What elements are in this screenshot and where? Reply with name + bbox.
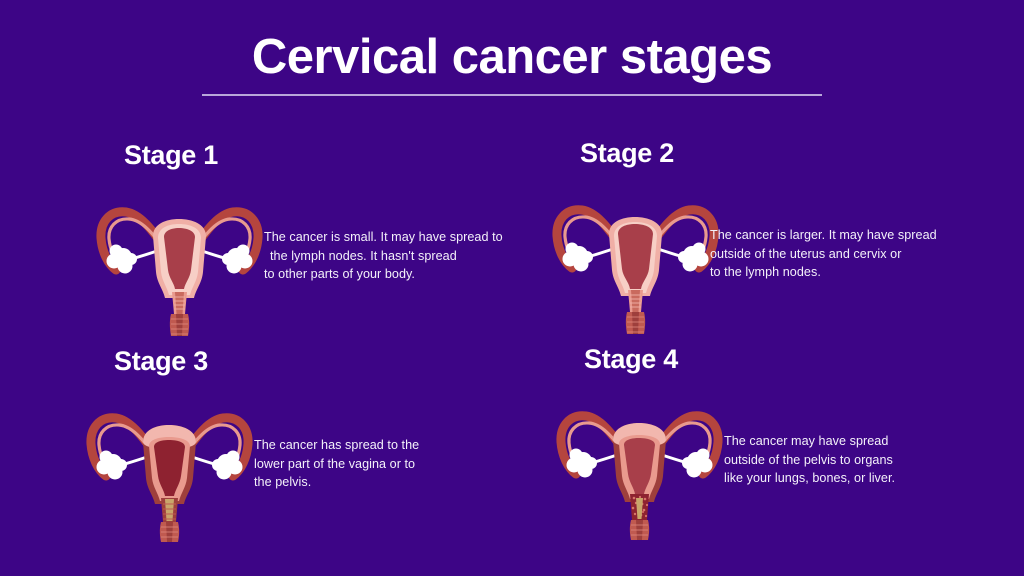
- stage-description-2-line-3: to the lymph nodes.: [710, 263, 1000, 282]
- stage-description-2-line-1: The cancer is larger. It may have spread: [710, 226, 1000, 245]
- stage-description-2-line-2: outside of the uterus and cervix or: [710, 245, 1000, 264]
- stage-description-3-line-3: the pelvis.: [254, 473, 534, 492]
- page-title: Cervical cancer stages: [0, 32, 1024, 83]
- stage-panel-2: Stage 2: [548, 138, 1003, 334]
- stage-panel-1: Stage 1: [92, 140, 547, 336]
- stage-description-4: The cancer may have spread outside of th…: [724, 432, 1014, 488]
- stage-description-4-line-2: outside of the pelvis to organs: [724, 451, 1014, 470]
- stage-panel-3: Stage 3: [82, 346, 537, 542]
- stage-description-3-line-1: The cancer has spread to the: [254, 436, 534, 455]
- stage-label-2: Stage 2: [580, 138, 674, 169]
- stage-description-1-line-3: to other parts of your body.: [264, 265, 549, 284]
- stage-description-1-line-1: The cancer is small. It may have spread …: [264, 228, 549, 247]
- stage-label-3: Stage 3: [114, 346, 208, 377]
- stage-label-4: Stage 4: [584, 344, 678, 375]
- uterus-diagram-stage-1: [92, 188, 267, 336]
- title-block: Cervical cancer stages: [0, 32, 1024, 96]
- stage-description-3: The cancer has spread to the lower part …: [254, 436, 534, 492]
- uterus-diagram-stage-2: [548, 186, 723, 334]
- stage-description-1-line-2: the lymph nodes. It hasn't spread: [264, 247, 549, 266]
- uterus-diagram-stage-3: [82, 394, 257, 542]
- uterus-diagram-stage-4: [552, 392, 727, 540]
- stage-description-4-line-3: like your lungs, bones, or liver.: [724, 469, 1014, 488]
- stage-description-4-line-1: The cancer may have spread: [724, 432, 1014, 451]
- stage-description-3-line-2: lower part of the vagina or to: [254, 455, 534, 474]
- title-underline-rule: [202, 94, 822, 96]
- stage-description-2: The cancer is larger. It may have spread…: [710, 226, 1000, 282]
- stage-description-1: The cancer is small. It may have spread …: [264, 228, 549, 284]
- stage-panel-4: Stage 4: [552, 344, 1007, 540]
- stage-label-1: Stage 1: [124, 140, 218, 171]
